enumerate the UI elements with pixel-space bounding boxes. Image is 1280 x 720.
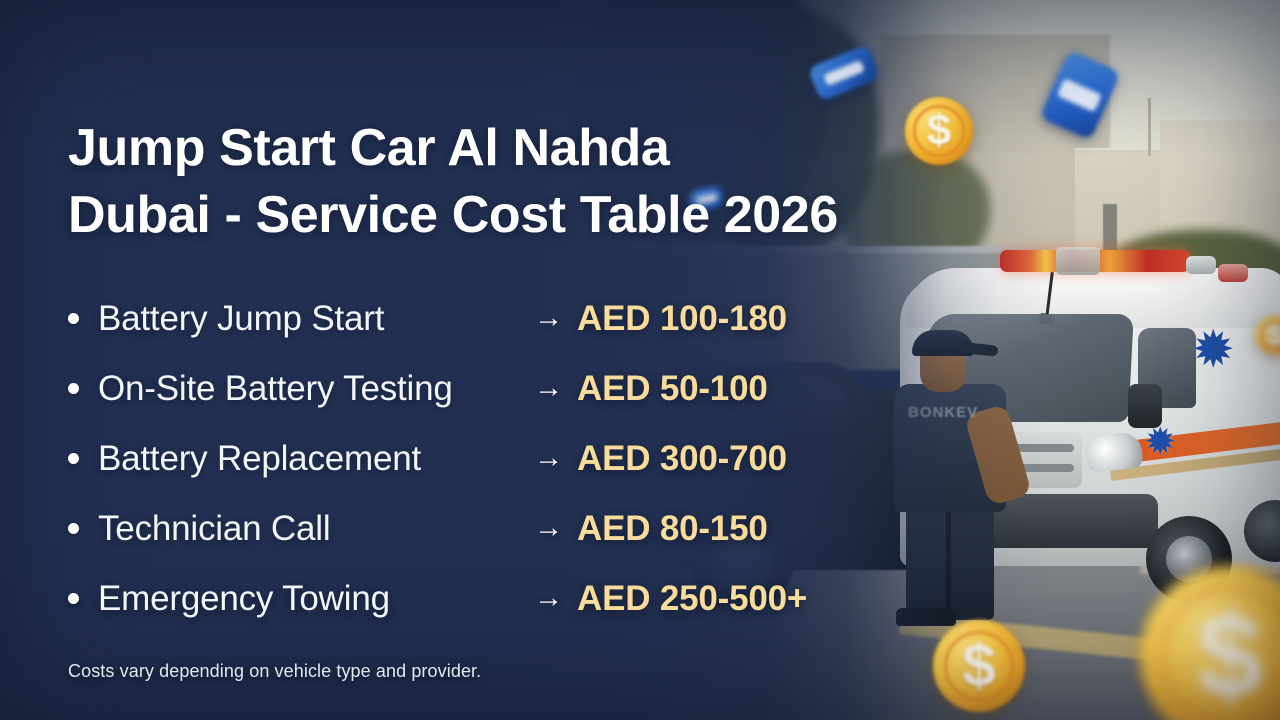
bullet-icon	[68, 453, 79, 464]
arrow-right-icon: →	[534, 584, 563, 613]
service-name: Emergency Towing	[98, 581, 534, 616]
page-title: Jump Start Car Al NahdaDubai - Service C…	[68, 115, 968, 250]
bullet-icon	[68, 523, 79, 534]
bullet-icon	[68, 383, 79, 394]
bullet-icon	[68, 313, 79, 324]
service-price: AED 80-150	[577, 511, 768, 546]
service-cost-poster: ✹ ✹ BONKEV $	[0, 0, 1280, 720]
service-row: On-Site Battery Testing→AED 50-100	[68, 353, 878, 423]
service-price: AED 50-100	[577, 371, 768, 406]
service-cost-list: Battery Jump Start→AED 100-180On-Site Ba…	[68, 283, 878, 633]
service-row: Battery Jump Start→AED 100-180	[68, 283, 878, 353]
arrow-right-icon: →	[534, 444, 563, 473]
service-name: Battery Jump Start	[98, 301, 534, 336]
service-name: Battery Replacement	[98, 441, 534, 476]
service-price: AED 300-700	[577, 441, 787, 476]
title-line-1: Jump Start Car Al Nahda	[68, 119, 669, 177]
service-row: Technician Call→AED 80-150	[68, 493, 878, 563]
service-name: Technician Call	[98, 511, 534, 546]
service-name: On-Site Battery Testing	[98, 371, 534, 406]
service-row: Emergency Towing→AED 250-500+	[68, 563, 878, 633]
arrow-right-icon: →	[534, 374, 563, 403]
arrow-right-icon: →	[534, 514, 563, 543]
service-price: AED 250-500+	[577, 581, 807, 616]
poster-content: Jump Start Car Al NahdaDubai - Service C…	[0, 0, 1280, 720]
bullet-icon	[68, 593, 79, 604]
footnote-disclaimer: Costs vary depending on vehicle type and…	[68, 662, 481, 680]
service-price: AED 100-180	[577, 301, 787, 336]
arrow-right-icon: →	[534, 304, 563, 333]
title-line-2: Dubai - Service Cost Table 2026	[68, 186, 838, 244]
service-row: Battery Replacement→AED 300-700	[68, 423, 878, 493]
